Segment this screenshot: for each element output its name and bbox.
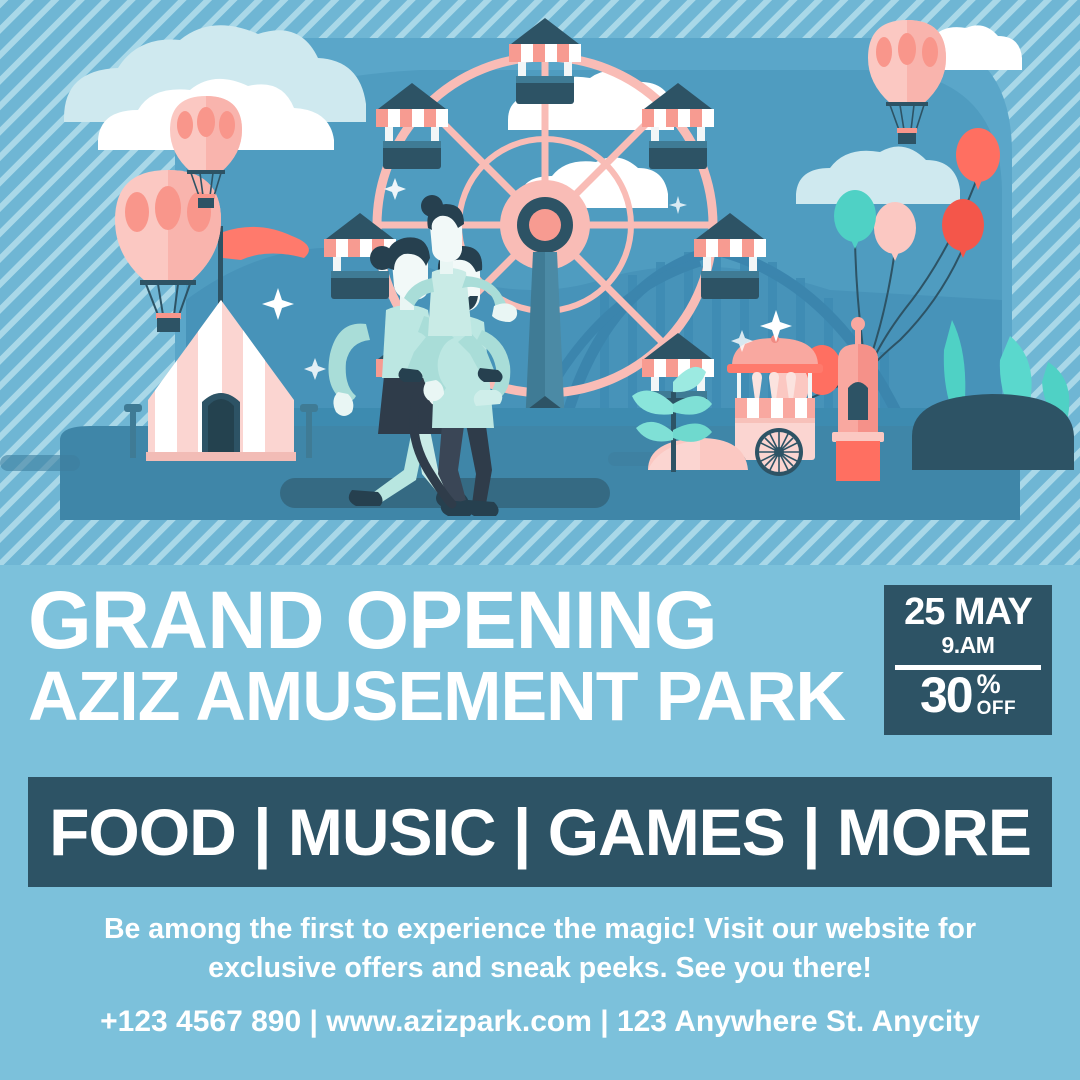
event-date: 25 MAY (904, 593, 1032, 631)
balloon-turquoise (834, 190, 876, 242)
date-discount-badge: 25 MAY 9.AM 30 % OFF (884, 585, 1052, 735)
balloon-red-top (956, 128, 1000, 182)
headline-row: GRAND OPENING AZIZ AMUSEMENT PARK 25 MAY… (0, 565, 1080, 750)
features-list: FOOD | MUSIC | GAMES | MORE (49, 799, 1031, 865)
cart-wheel-large (755, 428, 803, 476)
balloon-red-mid (942, 199, 984, 251)
text-panel: GRAND OPENING AZIZ AMUSEMENT PARK 25 MAY… (0, 565, 1080, 1080)
discount-row: 30 % OFF (894, 672, 1042, 718)
off-label: OFF (977, 699, 1017, 718)
kiosk-door (848, 382, 868, 420)
discount-number: 30 (920, 672, 972, 718)
bush-mound (912, 394, 1074, 470)
balloon-pink (874, 202, 916, 254)
event-time: 9.AM (942, 633, 995, 658)
ice-cream-cones (752, 372, 796, 400)
headline-block: GRAND OPENING AZIZ AMUSEMENT PARK (28, 583, 878, 729)
page-subtitle: AZIZ AMUSEMENT PARK (28, 664, 878, 728)
contact-line: +123 4567 890 | www.azizpark.com | 123 A… (40, 1005, 1040, 1039)
percent-sign: % (977, 672, 1001, 696)
features-bar: FOOD | MUSIC | GAMES | MORE (28, 777, 1052, 887)
amusement-park-illustration (0, 0, 1080, 570)
poster-canvas: GRAND OPENING AZIZ AMUSEMENT PARK 25 MAY… (0, 0, 1080, 1080)
body-copy: Be among the first to experience the mag… (62, 910, 1018, 989)
page-title: GRAND OPENING (28, 583, 878, 658)
discount-marks: % OFF (977, 672, 1017, 717)
